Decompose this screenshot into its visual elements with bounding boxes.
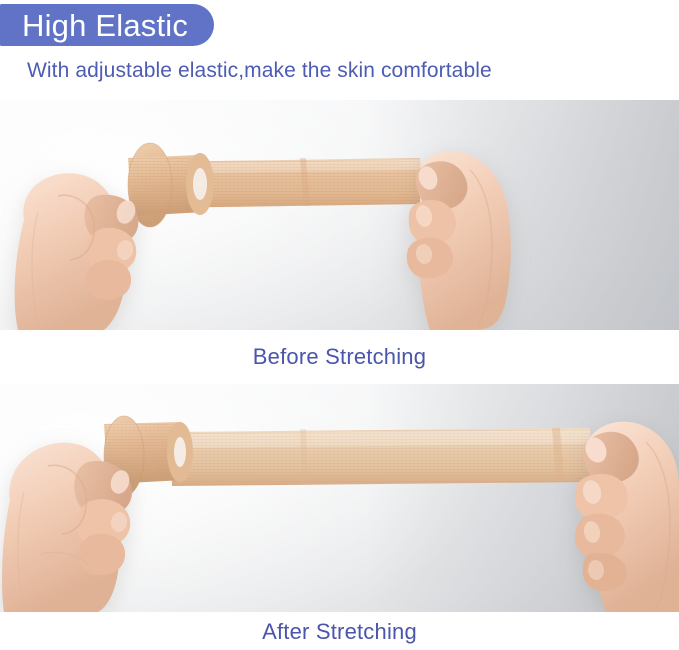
- title-badge: High Elastic: [0, 4, 214, 46]
- left-hand: [15, 173, 139, 330]
- header: High Elastic With adjustable elastic,mak…: [0, 0, 679, 96]
- caption-before-stretching: Before Stretching: [0, 344, 679, 370]
- photo-panel-before: [0, 100, 679, 330]
- product-infographic: High Elastic With adjustable elastic,mak…: [0, 0, 679, 650]
- right-hand: [407, 151, 511, 330]
- title-badge-label: High Elastic: [22, 10, 188, 41]
- photo-panel-after: [0, 384, 679, 612]
- bandage-before-illustration: [0, 100, 679, 330]
- right-hand: [575, 422, 679, 612]
- left-hand: [2, 443, 132, 612]
- caption-after-stretching: After Stretching: [0, 619, 679, 645]
- subtitle-text: With adjustable elastic,make the skin co…: [27, 58, 492, 83]
- bandage-after-illustration: [0, 384, 679, 612]
